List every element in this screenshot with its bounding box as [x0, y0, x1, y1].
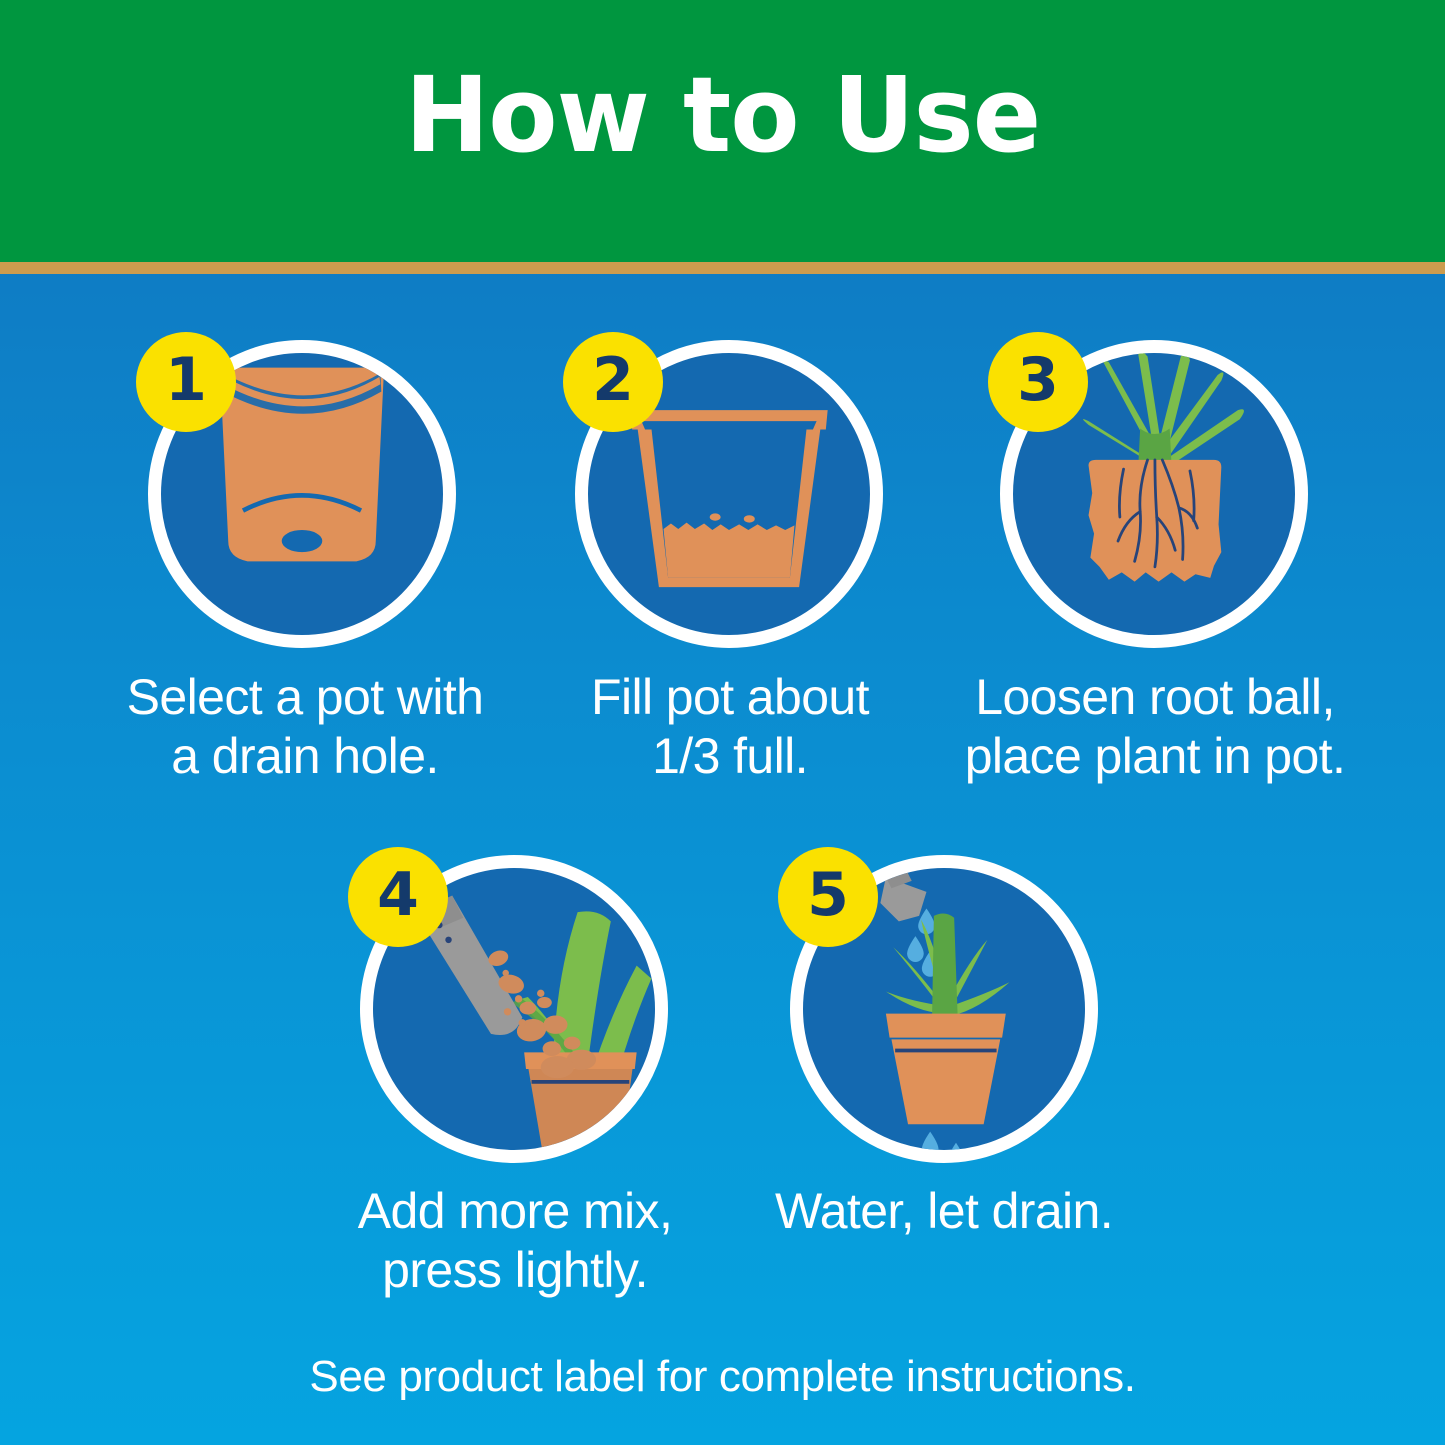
footnote-text: See product label for complete instructi…	[0, 1352, 1445, 1402]
step-4-number: 4	[377, 865, 419, 925]
step-5-number: 5	[807, 865, 849, 925]
step-2-badge: 2	[563, 332, 663, 432]
step-1-caption: Select a pot with a drain hole.	[60, 668, 550, 786]
gold-divider-rule	[0, 262, 1445, 274]
how-to-use-infographic: How to Use 1 Select a pot	[0, 0, 1445, 1445]
step-5-badge: 5	[778, 847, 878, 947]
step-3-number: 3	[1017, 350, 1059, 410]
step-2-number: 2	[592, 350, 634, 410]
page-title: How to Use	[405, 63, 1040, 167]
step-3: 3	[1000, 340, 1308, 648]
step-1-badge: 1	[136, 332, 236, 432]
step-4: 4	[360, 855, 668, 1163]
step-5-caption: Water, let drain.	[714, 1182, 1174, 1241]
step-1-number: 1	[165, 350, 207, 410]
step-2-caption: Fill pot about 1/3 full.	[490, 668, 970, 786]
step-3-caption: Loosen root ball, place plant in pot.	[905, 668, 1405, 786]
step-1: 1	[148, 340, 456, 648]
step-4-caption: Add more mix, press lightly.	[285, 1182, 745, 1300]
step-2: 2	[575, 340, 883, 648]
step-5: 5	[790, 855, 1098, 1163]
step-4-badge: 4	[348, 847, 448, 947]
step-3-badge: 3	[988, 332, 1088, 432]
header-banner: How to Use	[0, 0, 1445, 262]
